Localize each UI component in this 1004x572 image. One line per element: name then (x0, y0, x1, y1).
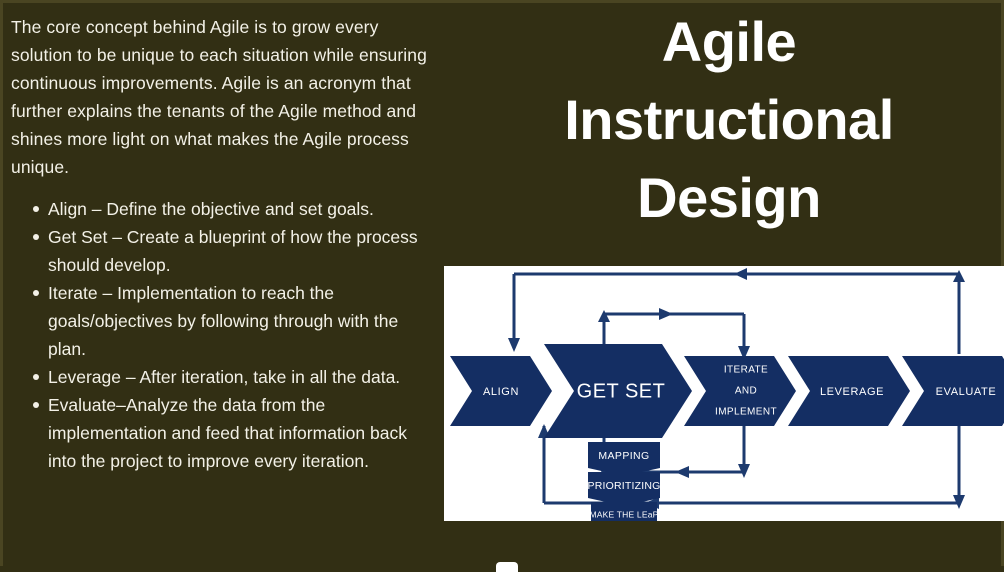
list-item: Leverage – After iteration, take in all … (11, 363, 439, 391)
diagram-substep-label: MAPPING (598, 450, 649, 462)
diagram-stage-label-line-1: ITERATE (724, 365, 768, 376)
list-item-label: Evaluate–Analyze the data from the imple… (48, 395, 407, 471)
bullet-dot-icon (33, 290, 39, 296)
list-item-label: Get Set – Create a blueprint of how the … (48, 227, 418, 275)
diagram-stage-label: GET SET (577, 380, 666, 402)
diagram-stage-label: EVALUATE (936, 386, 997, 398)
list-item-label: Leverage – After iteration, take in all … (48, 367, 400, 387)
diagram-substep-label: MAKE THE LEaP (589, 509, 658, 519)
agile-process-diagram: ALIGN GET SET ITERATE AND IMPLEMENT LEVE… (444, 266, 1004, 521)
list-item: Align – Define the objective and set goa… (11, 195, 439, 223)
page-title-line-1: Agile (451, 3, 1004, 81)
bottom-overlay-nub[interactable] (496, 562, 518, 572)
list-item: Evaluate–Analyze the data from the imple… (11, 391, 439, 475)
list-item-label: Align – Define the objective and set goa… (48, 199, 374, 219)
diagram-stage-label-line-2: AND (735, 386, 757, 397)
page-title-line-3: Design (451, 159, 1004, 237)
diagram-stage-leverage[interactable]: LEVERAGE (788, 356, 910, 426)
bullet-dot-icon (33, 402, 39, 408)
bullet-dot-icon (33, 374, 39, 380)
bullet-dot-icon (33, 206, 39, 212)
slide-canvas: The core concept behind Agile is to grow… (0, 0, 1004, 566)
diagram-stage-iterate-and-implement[interactable]: ITERATE AND IMPLEMENT (684, 356, 796, 426)
diagram-stage-evaluate[interactable]: EVALUATE (902, 356, 1004, 426)
intro-paragraph: The core concept behind Agile is to grow… (11, 13, 439, 181)
diagram-substep-label: PRIORITIZING (588, 480, 661, 492)
diagram-stage-label: ALIGN (483, 386, 519, 398)
page-title: Agile Instructional Design (451, 3, 1004, 237)
list-item-label: Iterate – Implementation to reach the go… (48, 283, 398, 359)
diagram-substep-prioritizing[interactable]: PRIORITIZING (588, 472, 661, 506)
diagram-stage-get-set[interactable]: GET SET (544, 344, 692, 438)
diagram-stage-label: LEVERAGE (820, 386, 884, 398)
list-item: Get Set – Create a blueprint of how the … (11, 223, 439, 279)
diagram-substep-make-the-leap[interactable]: MAKE THE LEaP (589, 502, 658, 521)
content-column: The core concept behind Agile is to grow… (3, 13, 443, 475)
agile-steps-list: Align – Define the objective and set goa… (11, 195, 439, 475)
diagram-stage-align[interactable]: ALIGN (450, 356, 552, 426)
list-item: Iterate – Implementation to reach the go… (11, 279, 439, 363)
page-title-line-2: Instructional (451, 81, 1004, 159)
bullet-dot-icon (33, 234, 39, 240)
diagram-stage-label-line-3: IMPLEMENT (715, 407, 777, 418)
